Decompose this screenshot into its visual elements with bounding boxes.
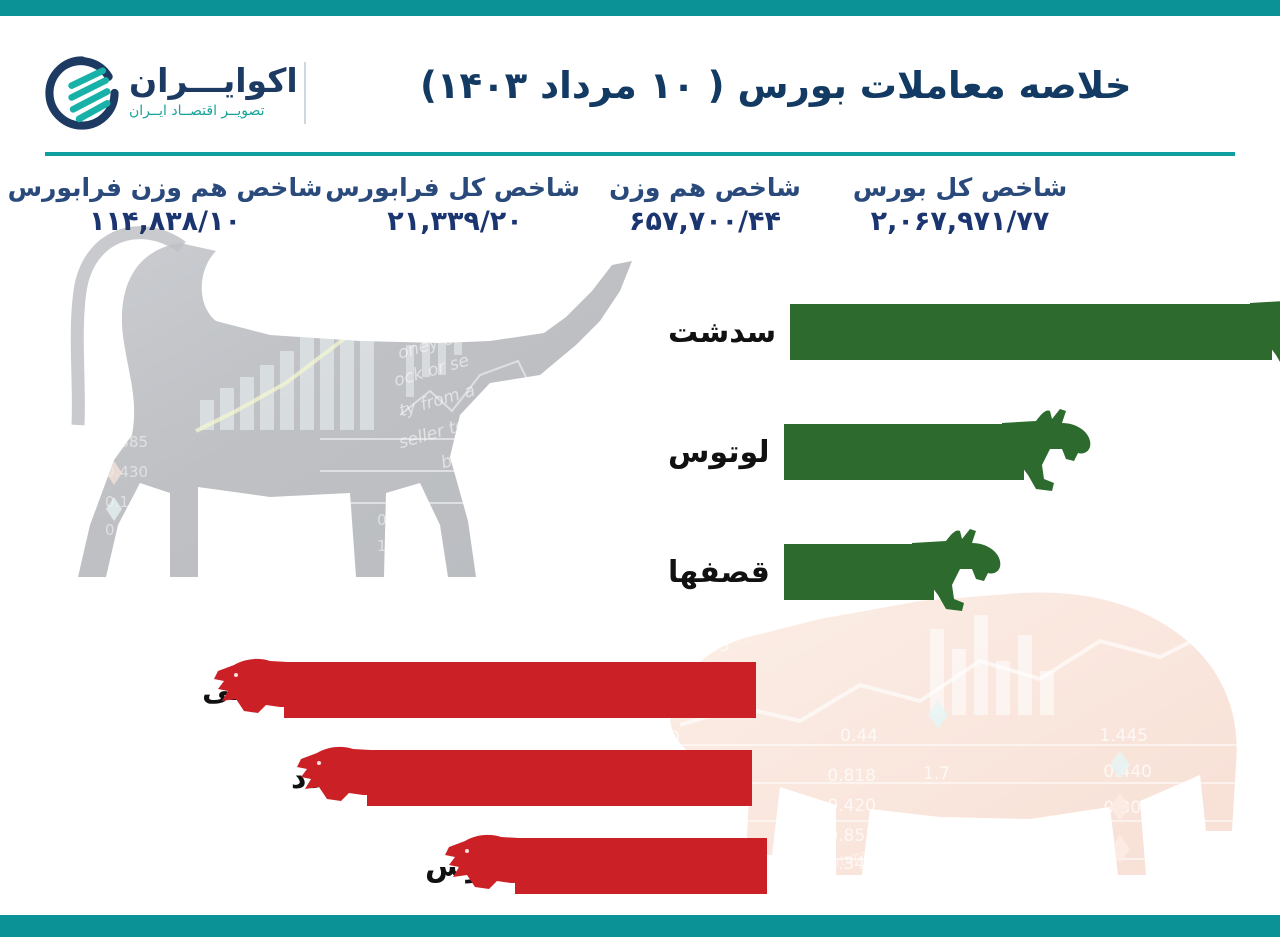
bear-icon (445, 831, 537, 901)
index-value: ۲,۰۶۷,۹۷۱/۷۷ (830, 205, 1090, 239)
bar-negative[interactable] (367, 750, 752, 806)
index-label: شاخص هم وزن فرابورس (0, 172, 330, 203)
index-label: شاخص کل بورس (830, 172, 1090, 203)
index-card-total-farabourse: شاخص کل فرابورس ۲۱,۳۳۹/۲۰ (330, 172, 580, 252)
chart-row-negative: فولاد (277, 738, 752, 818)
bar-positive[interactable] (790, 304, 1272, 360)
bull-icon (1250, 289, 1280, 375)
infographic-page: اکوایـــران تصویــر اقتصــاد ایــران خلا… (0, 0, 1280, 937)
chart-row-positive: قصفها (668, 532, 934, 612)
index-card-equal-weight-farabourse: شاخص هم وزن فرابورس ۱۱۴,۸۳۸/۱۰ (0, 172, 330, 252)
bear-icon (297, 743, 389, 813)
page-title: خلاصه معاملات بورس ( ۱۰ مرداد ۱۴۰۳) (0, 64, 1240, 107)
chart-row-negative: فملی (188, 650, 756, 730)
index-card-total-bourse: شاخص کل بورس ۲,۰۶۷,۹۷۱/۷۷ (830, 172, 1090, 252)
bull-icon (912, 529, 1004, 615)
impact-bar-chart: سدشت لوتوس قصفها (0, 270, 1280, 910)
bear-icon (214, 655, 306, 725)
index-label: شاخص کل فرابورس (330, 172, 580, 203)
bar-label: سدشت (668, 315, 776, 350)
bar-positive[interactable] (784, 544, 934, 600)
bar-label: لوتوس (668, 435, 770, 470)
chart-row-positive: سدشت (668, 292, 1272, 372)
index-card-equal-weight: شاخص هم وزن ۶۵۷,۷۰۰/۴۴ (580, 172, 830, 252)
index-value: ۶۵۷,۷۰۰/۴۴ (580, 205, 830, 239)
page-title-text: خلاصه معاملات بورس ( ۱۰ مرداد ۱۴۰۳) (420, 64, 1132, 107)
bar-negative[interactable] (515, 838, 767, 894)
chart-row-positive: لوتوس (668, 412, 1024, 492)
bottom-accent-bar (0, 915, 1280, 937)
header-divider (45, 152, 1235, 156)
header: اکوایـــران تصویــر اقتصــاد ایــران خلا… (0, 16, 1280, 151)
top-accent-bar (0, 0, 1280, 16)
bull-icon (1002, 409, 1094, 495)
chart-row-negative: فارس (411, 826, 767, 906)
index-summary-row: شاخص کل بورس ۲,۰۶۷,۹۷۱/۷۷ شاخص هم وزن ۶۵… (0, 172, 1280, 252)
bar-negative[interactable] (284, 662, 756, 718)
bar-positive[interactable] (784, 424, 1024, 480)
index-value: ۲۱,۳۳۹/۲۰ (330, 205, 580, 239)
index-label: شاخص هم وزن (580, 172, 830, 203)
index-value: ۱۱۴,۸۳۸/۱۰ (0, 205, 330, 239)
bar-label: قصفها (668, 555, 770, 590)
